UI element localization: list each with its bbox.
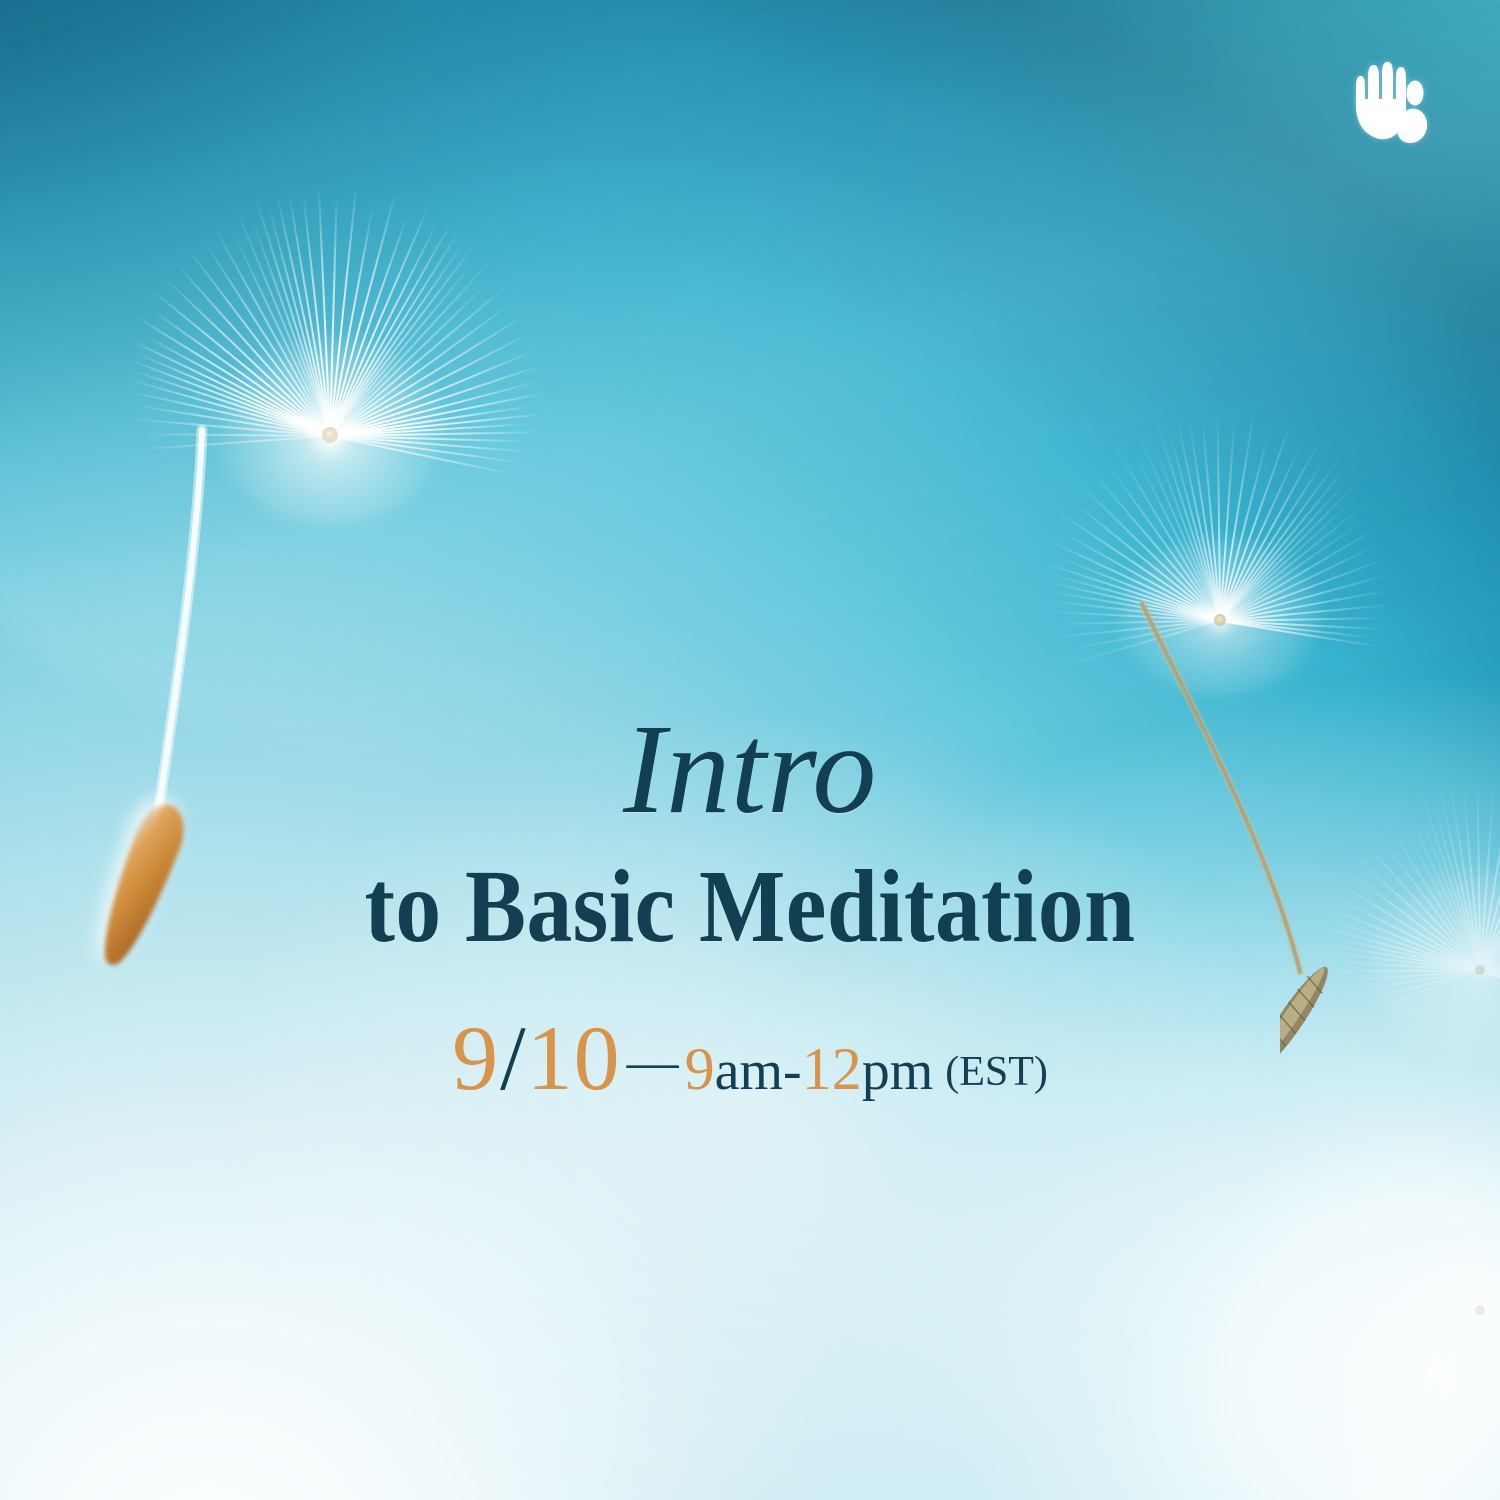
- event-start-period: am: [715, 1040, 783, 1102]
- poster-text-block: Intro to Basic Meditation 9/10—9am-12pm(…: [0, 0, 1500, 1500]
- date-separator: /: [499, 1007, 527, 1109]
- event-end-period: pm: [862, 1040, 934, 1102]
- event-start-hour: 9: [685, 1036, 715, 1102]
- time-range-hyphen: -: [783, 1040, 802, 1102]
- event-timezone: (EST): [933, 1049, 1048, 1095]
- meditation-event-poster: Intro to Basic Meditation 9/10—9am-12pm(…: [0, 0, 1500, 1500]
- event-month: 9: [452, 1007, 499, 1109]
- event-datetime: 9/10—9am-12pm(EST): [0, 1012, 1500, 1104]
- page-title-line1: Intro: [0, 705, 1500, 833]
- date-time-dash: —: [621, 1034, 685, 1091]
- event-day: 10: [527, 1007, 621, 1109]
- page-title-line2: to Basic Meditation: [90, 855, 1410, 959]
- event-end-hour: 12: [802, 1036, 862, 1102]
